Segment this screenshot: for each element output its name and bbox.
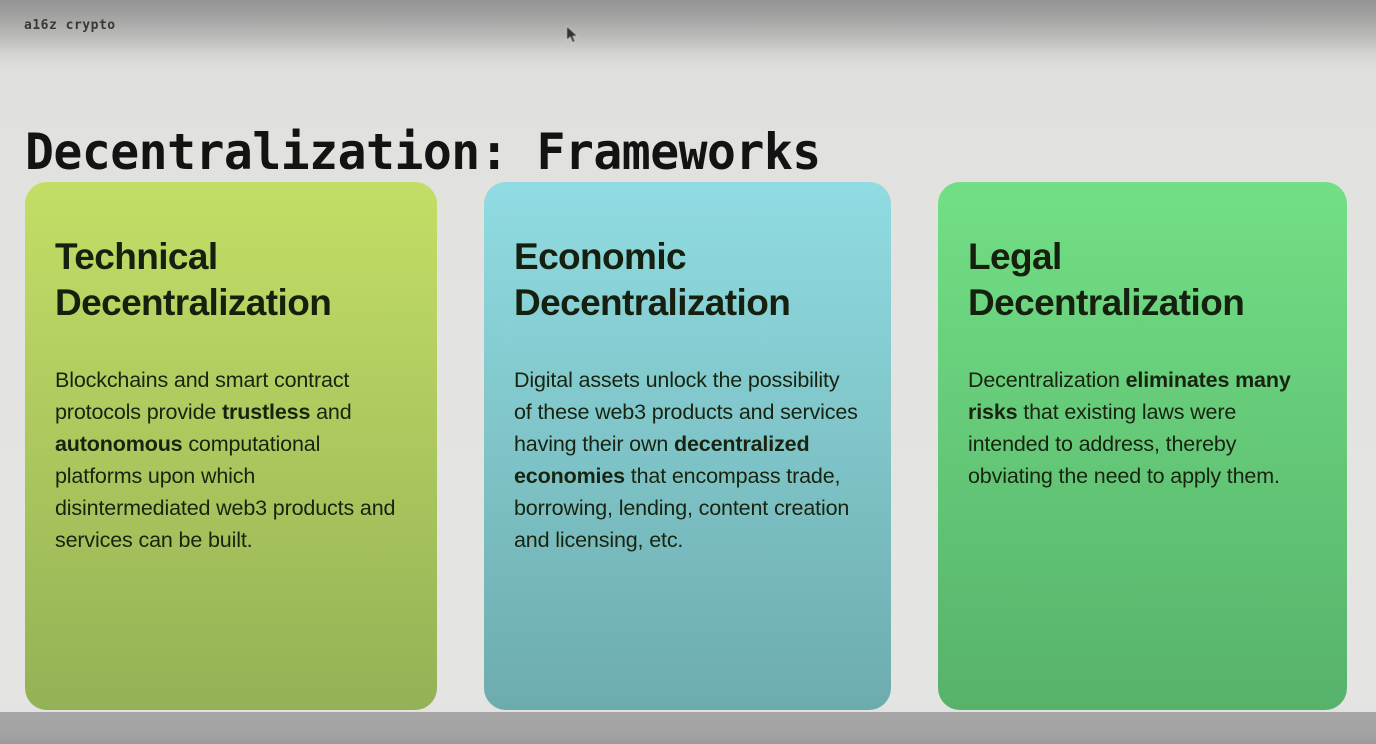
- card-title: Technical Decentralization: [55, 234, 407, 326]
- card-body: Blockchains and smart contract protocols…: [55, 364, 407, 556]
- card-title: Legal Decentralization: [968, 234, 1317, 326]
- card-technical-decentralization: Technical Decentralization Blockchains a…: [25, 182, 437, 710]
- brand-logo-a16z-crypto: a16z crypto: [24, 18, 116, 33]
- card-economic-decentralization: Economic Decentralization Digital assets…: [484, 182, 891, 710]
- card-legal-decentralization: Legal Decentralization Decentralization …: [938, 182, 1347, 710]
- slide-top-band: [0, 0, 1376, 72]
- presentation-slide: a16z crypto Decentralization: Frameworks…: [0, 0, 1376, 744]
- card-body: Decentralization eliminates many risks t…: [968, 364, 1317, 492]
- slide-bottom-band: [0, 712, 1376, 744]
- card-title: Economic Decentralization: [514, 234, 861, 326]
- page-title: Decentralization: Frameworks: [25, 122, 821, 182]
- framework-card-row: Technical Decentralization Blockchains a…: [25, 182, 1347, 710]
- card-body: Digital assets unlock the possibility of…: [514, 364, 861, 556]
